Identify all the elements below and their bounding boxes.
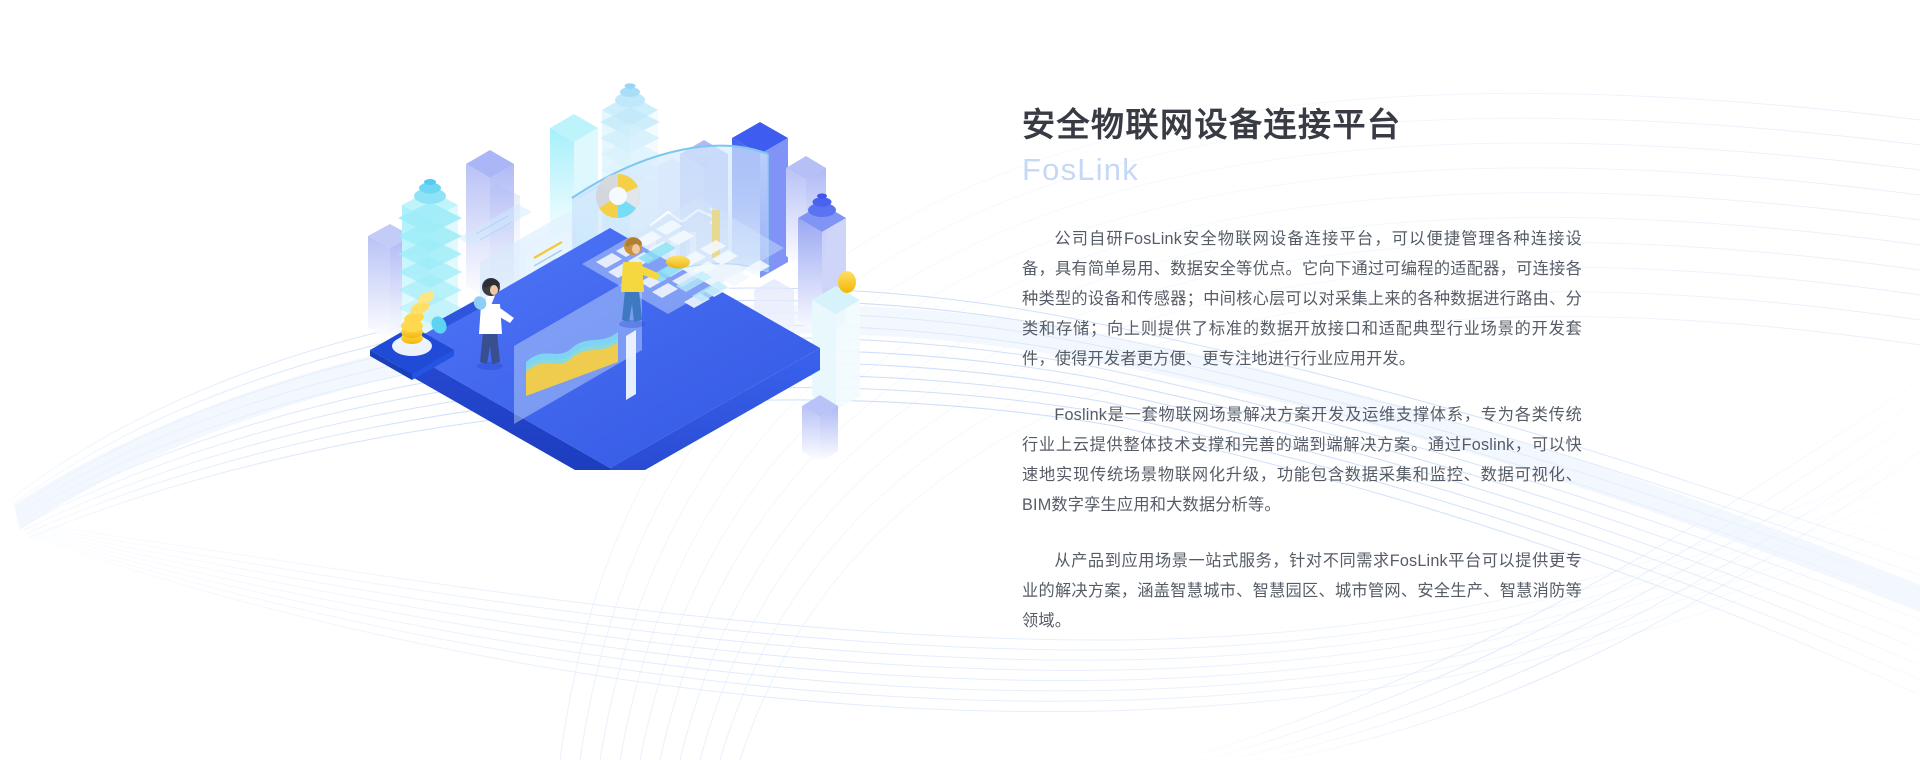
background-wave-decoration — [0, 0, 1920, 760]
paragraph-1: 公司自研FosLink安全物联网设备连接平台，可以便捷管理各种连接设备，具有简单… — [1022, 224, 1582, 374]
paragraph-3: 从产品到应用场景一站式服务，针对不同需求FosLink平台可以提供更专业的解决方… — [1022, 546, 1582, 636]
paragraph-2: Foslink是一套物联网场景解决方案开发及运维支撑体系，专为各类传统行业上云提… — [1022, 400, 1582, 520]
hero-text-block: 安全物联网设备连接平台 FosLink 公司自研FosLink安全物联网设备连接… — [1022, 104, 1622, 636]
tower-small-bottom-right — [802, 395, 838, 462]
description-paragraphs: 公司自研FosLink安全物联网设备连接平台，可以便捷管理各种连接设备，具有简单… — [1022, 224, 1622, 636]
hero-section: 安全物联网设备连接平台 FosLink 公司自研FosLink安全物联网设备连接… — [0, 0, 1920, 760]
product-name-subtitle: FosLink — [1022, 151, 1622, 190]
page-title: 安全物联网设备连接平台 — [1022, 104, 1622, 147]
coin-token — [666, 256, 690, 269]
screen-pie-chart — [596, 174, 640, 218]
isometric-platform-illustration — [350, 50, 870, 470]
